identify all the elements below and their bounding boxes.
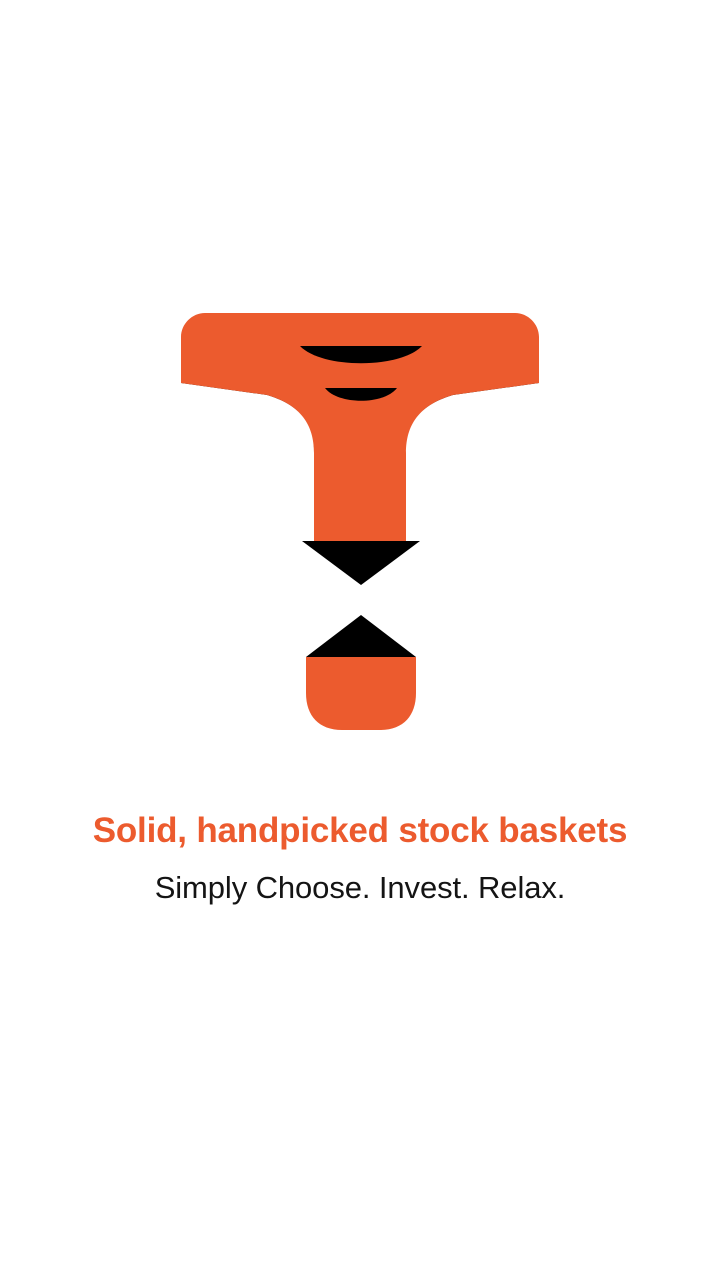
tagline-block: Solid, handpicked stock baskets Simply C… [0, 808, 720, 908]
splash-screen: Solid, handpicked stock baskets Simply C… [0, 0, 720, 1280]
funnel-logo [181, 313, 539, 733]
basket-body-shape [306, 657, 416, 730]
subheadline-text: Simply Choose. Invest. Relax. [0, 868, 720, 908]
basket-lid-icon [306, 615, 416, 657]
funnel-logo-graphic [181, 313, 539, 733]
funnel-spout-notch-icon [302, 541, 420, 585]
headline-text: Solid, handpicked stock baskets [0, 808, 720, 854]
